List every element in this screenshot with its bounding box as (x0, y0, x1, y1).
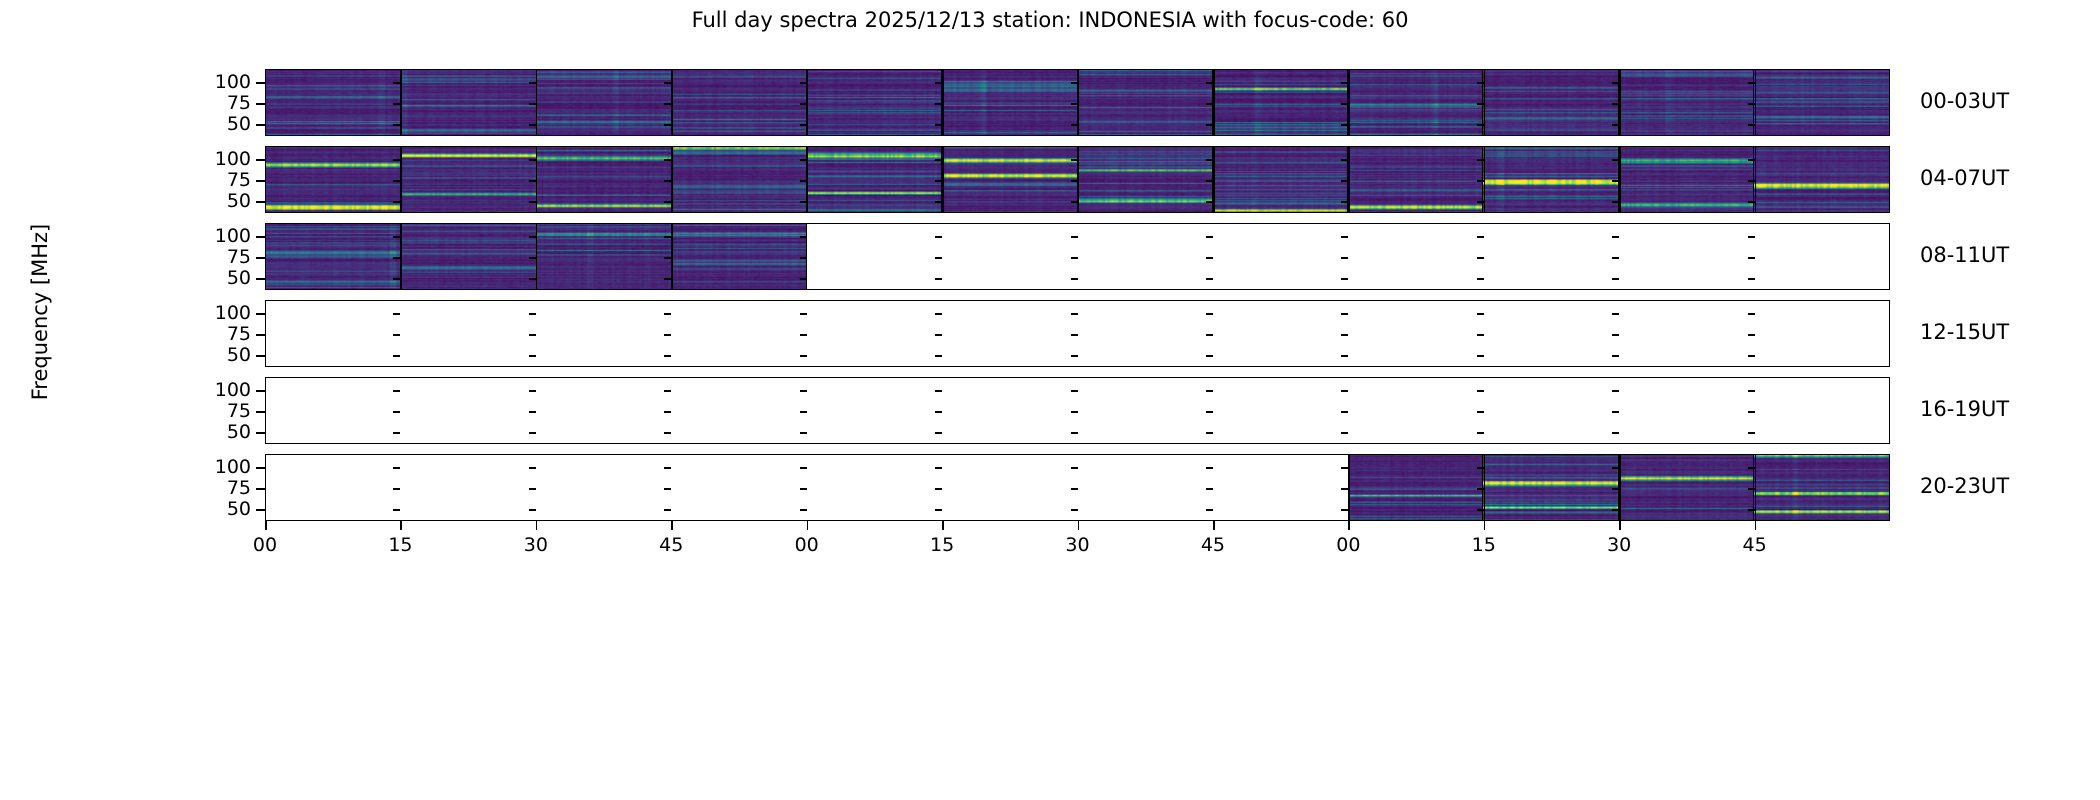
y-tick-label: 75 (227, 323, 251, 345)
spectrogram-image (266, 70, 400, 135)
panel-tick-stub (393, 180, 400, 182)
panel-separator (807, 69, 809, 136)
panel-tick-stub (393, 159, 400, 161)
panel-tick-stub (935, 180, 942, 182)
panel-tick-stub (1612, 334, 1619, 336)
panel-separator (942, 300, 944, 367)
panel-tick-stub (1748, 432, 1755, 434)
spectrogram-panel (942, 224, 1077, 289)
panel-separator (1619, 223, 1621, 290)
panel-tick-stub (935, 159, 942, 161)
x-tick-mark (671, 521, 673, 530)
spectrogram-panel (1754, 147, 1889, 212)
spectrogram-panel (672, 455, 807, 520)
panel-tick-stub (1748, 488, 1755, 490)
panel-tick-stub (1477, 180, 1484, 182)
panel-separator (807, 454, 809, 521)
spectrogram-image (266, 147, 400, 212)
panel-tick-stub (1341, 82, 1348, 84)
spectrogram-panel (1754, 378, 1889, 443)
panel-separator (942, 146, 944, 213)
panel-separator (1619, 69, 1621, 136)
panel-tick-stub (1748, 201, 1755, 203)
panel-tick-stub (1748, 467, 1755, 469)
panel-tick-stub (664, 103, 671, 105)
panel-tick-stub (1206, 201, 1213, 203)
y-tick-label: 50 (227, 421, 251, 443)
y-axis-label: Frequency [MHz] (28, 182, 52, 442)
spectrogram-panel (1078, 147, 1213, 212)
panel-tick-stub (935, 124, 942, 126)
y-tick-mark (256, 278, 265, 280)
spectrogram-image (401, 224, 535, 289)
panel-tick-stub (1477, 488, 1484, 490)
panel-separator (1078, 223, 1080, 290)
spectrogram-image (1754, 455, 1889, 520)
panel-tick-stub (1341, 509, 1348, 511)
spectrogram-image (537, 70, 671, 135)
panel-tick-stub (393, 278, 400, 280)
panel-tick-stub (1477, 432, 1484, 434)
y-tick-mark (256, 355, 265, 357)
spectrogram-panel (1483, 455, 1618, 520)
panel-tick-stub (1206, 103, 1213, 105)
panel-tick-stub (1477, 103, 1484, 105)
x-tick-label: 45 (1742, 534, 1766, 556)
panel-separator (1755, 223, 1757, 290)
panel-tick-stub (664, 159, 671, 161)
y-tick-mark (256, 390, 265, 392)
y-tick-label: 75 (227, 400, 251, 422)
spectrogram-panel (401, 70, 536, 135)
panel-tick-stub (393, 488, 400, 490)
panel-tick-stub (800, 257, 807, 259)
spectrogram-panel (1754, 224, 1889, 289)
panel-tick-stub (1341, 411, 1348, 413)
panel-tick-stub (1206, 257, 1213, 259)
spectrogram-panel (672, 378, 807, 443)
panel-tick-stub (1612, 390, 1619, 392)
y-tick-mark (256, 334, 265, 336)
spectrogram-panel (1483, 147, 1618, 212)
panel-tick-stub (664, 509, 671, 511)
panel-separator (400, 146, 402, 213)
x-tick-label: 00 (795, 534, 819, 556)
spectrogram-panel (1213, 378, 1348, 443)
x-tick-label: 15 (1472, 534, 1496, 556)
panel-separator (1755, 454, 1757, 521)
spectrogram-panel (401, 301, 536, 366)
spectrogram-panel (807, 147, 942, 212)
spectrogram-image (1483, 147, 1617, 212)
panel-tick-stub (1477, 334, 1484, 336)
panel-tick-stub (1748, 159, 1755, 161)
spectrogram-panel (1078, 301, 1213, 366)
panel-tick-stub (1612, 257, 1619, 259)
panel-separator (1755, 300, 1757, 367)
panel-tick-stub (800, 313, 807, 315)
panel-tick-stub (393, 355, 400, 357)
row-time-label: 16-19UT (1920, 397, 2009, 421)
panel-separator (1213, 300, 1215, 367)
panel-tick-stub (1071, 278, 1078, 280)
panel-tick-stub (1341, 432, 1348, 434)
panel-tick-stub (1612, 411, 1619, 413)
panel-separator (1755, 146, 1757, 213)
x-tick-mark (1755, 521, 1757, 530)
panel-tick-stub (935, 201, 942, 203)
panel-separator (1348, 69, 1350, 136)
panel-tick-stub (935, 278, 942, 280)
y-tick-mark (256, 180, 265, 182)
panel-tick-stub (529, 124, 536, 126)
panel-tick-stub (529, 236, 536, 238)
x-tick-mark (1484, 521, 1486, 530)
panel-tick-stub (1477, 236, 1484, 238)
spectrogram-panel (942, 301, 1077, 366)
panel-tick-stub (393, 103, 400, 105)
panel-separator (942, 377, 944, 444)
y-tick-label: 100 (215, 148, 251, 170)
spectrogram-panel (1348, 301, 1483, 366)
panel-tick-stub (664, 390, 671, 392)
page-title: Full day spectra 2025/12/13 station: IND… (0, 8, 2100, 32)
panel-separator (1078, 454, 1080, 521)
panel-tick-stub (1748, 390, 1755, 392)
panel-tick-stub (1341, 159, 1348, 161)
panel-tick-stub (1612, 278, 1619, 280)
panel-tick-stub (529, 334, 536, 336)
panel-separator (1755, 377, 1757, 444)
panel-tick-stub (1748, 278, 1755, 280)
panel-separator (1348, 223, 1350, 290)
spectrogram-panel (537, 455, 672, 520)
panel-tick-stub (935, 236, 942, 238)
spectrogram-panel (401, 147, 536, 212)
spectrogram-image (1619, 70, 1753, 135)
spectrogram-image (537, 147, 671, 212)
x-tick-mark (1619, 521, 1621, 530)
row-time-label: 20-23UT (1920, 474, 2009, 498)
panel-tick-stub (1341, 103, 1348, 105)
panel-separator (400, 223, 402, 290)
spectrogram-panel (537, 147, 672, 212)
panel-tick-stub (664, 257, 671, 259)
x-tick-mark (265, 521, 267, 530)
panel-tick-stub (1341, 201, 1348, 203)
panel-tick-stub (1748, 236, 1755, 238)
spectrogram-panel (1078, 224, 1213, 289)
panel-tick-stub (935, 509, 942, 511)
panel-tick-stub (1612, 488, 1619, 490)
spectrogram-panel (1078, 70, 1213, 135)
panel-tick-stub (935, 82, 942, 84)
spectrogram-panel (1213, 455, 1348, 520)
panel-separator (807, 223, 809, 290)
panel-tick-stub (800, 159, 807, 161)
x-tick-mark (1078, 521, 1080, 530)
spectrogram-image (1078, 147, 1212, 212)
panel-tick-stub (1612, 236, 1619, 238)
panel-tick-stub (664, 334, 671, 336)
spectrogram-image (1348, 70, 1482, 135)
y-tick-label: 100 (215, 379, 251, 401)
row-time-label: 08-11UT (1920, 243, 2009, 267)
y-tick-label: 50 (227, 498, 251, 520)
spectrogram-panel (672, 147, 807, 212)
spectrogram-panel (807, 455, 942, 520)
panel-tick-stub (1071, 509, 1078, 511)
panel-tick-stub (800, 124, 807, 126)
panel-tick-stub (1206, 278, 1213, 280)
spectrogram-panel (1213, 147, 1348, 212)
panel-tick-stub (800, 236, 807, 238)
panel-tick-stub (1071, 488, 1078, 490)
panel-separator (536, 69, 538, 136)
spectrogram-panel (1078, 455, 1213, 520)
x-tick-mark (807, 521, 809, 530)
panel-tick-stub (800, 411, 807, 413)
panel-tick-stub (1341, 488, 1348, 490)
spectrogram-row-00-03ut: 1007550 (265, 69, 1890, 136)
panel-separator (536, 223, 538, 290)
panel-tick-stub (935, 355, 942, 357)
panel-tick-stub (1748, 124, 1755, 126)
spectrogram-image (1348, 147, 1482, 212)
spectrogram-panel (1619, 147, 1754, 212)
panel-tick-stub (1206, 509, 1213, 511)
x-tick-mark (1213, 521, 1215, 530)
panel-tick-stub (800, 278, 807, 280)
panel-tick-stub (1071, 201, 1078, 203)
x-tick-label: 30 (1607, 534, 1631, 556)
panel-separator (400, 454, 402, 521)
panel-tick-stub (1612, 124, 1619, 126)
y-tick-mark (256, 411, 265, 413)
panel-tick-stub (529, 278, 536, 280)
spectrogram-image (672, 70, 806, 135)
panel-tick-stub (1341, 313, 1348, 315)
panel-tick-stub (393, 432, 400, 434)
panel-separator (1619, 454, 1621, 521)
spectrogram-panel (942, 70, 1077, 135)
panel-tick-stub (935, 432, 942, 434)
spectrogram-panel (266, 378, 401, 443)
panel-tick-stub (664, 201, 671, 203)
panel-tick-stub (1206, 236, 1213, 238)
panel-tick-stub (1748, 103, 1755, 105)
panel-tick-stub (393, 257, 400, 259)
panel-separator (807, 300, 809, 367)
panel-tick-stub (1748, 257, 1755, 259)
spectrogram-panel (266, 301, 401, 366)
panel-tick-stub (664, 313, 671, 315)
x-tick-mark (1348, 521, 1350, 530)
panel-tick-stub (1341, 257, 1348, 259)
panel-tick-stub (664, 355, 671, 357)
panel-tick-stub (1748, 334, 1755, 336)
panel-separator (536, 300, 538, 367)
spectrogram-panel (401, 224, 536, 289)
panel-tick-stub (1206, 411, 1213, 413)
panel-tick-stub (1477, 390, 1484, 392)
spectrogram-panel (266, 70, 401, 135)
panel-tick-stub (393, 82, 400, 84)
panel-tick-stub (1206, 432, 1213, 434)
spectrogram-panel (1348, 224, 1483, 289)
panel-tick-stub (1341, 278, 1348, 280)
panel-tick-stub (393, 411, 400, 413)
spectrogram-image (1213, 147, 1347, 212)
panel-separator (1078, 377, 1080, 444)
spectrogram-panel (1619, 455, 1754, 520)
spectrogram-panel (1078, 378, 1213, 443)
spectrogram-panel (1754, 455, 1889, 520)
spectrogram-panel (1348, 455, 1483, 520)
spectrogram-image (942, 147, 1076, 212)
panel-separator (1213, 454, 1215, 521)
panel-tick-stub (935, 488, 942, 490)
panel-tick-stub (1748, 313, 1755, 315)
panel-separator (1348, 454, 1350, 521)
spectrogram-panel (1619, 301, 1754, 366)
panel-tick-stub (1071, 180, 1078, 182)
spectrogram-panel (942, 378, 1077, 443)
spectrogram-image (1078, 70, 1212, 135)
panel-separator (807, 146, 809, 213)
y-tick-mark (256, 467, 265, 469)
spectrogram-panel (1483, 70, 1618, 135)
panel-tick-stub (529, 201, 536, 203)
panel-separator (536, 146, 538, 213)
row-time-label: 04-07UT (1920, 166, 2009, 190)
spectrogram-panel (266, 224, 401, 289)
panel-tick-stub (1071, 467, 1078, 469)
panel-separator (1213, 69, 1215, 136)
spectrogram-panel (1619, 224, 1754, 289)
panel-tick-stub (1341, 124, 1348, 126)
panel-tick-stub (1477, 467, 1484, 469)
y-tick-mark (256, 257, 265, 259)
spectrogram-panel (1619, 378, 1754, 443)
panel-tick-stub (1477, 124, 1484, 126)
panel-tick-stub (1612, 467, 1619, 469)
panel-tick-stub (800, 432, 807, 434)
panel-tick-stub (664, 82, 671, 84)
panel-tick-stub (1612, 355, 1619, 357)
spectrogram-panel (1348, 378, 1483, 443)
panel-tick-stub (393, 509, 400, 511)
spectrogram-panel (942, 147, 1077, 212)
panel-tick-stub (1612, 509, 1619, 511)
panel-separator (1484, 377, 1486, 444)
panel-separator (1484, 454, 1486, 521)
panel-tick-stub (800, 488, 807, 490)
y-tick-mark (256, 103, 265, 105)
spectrogram-image (1754, 147, 1889, 212)
x-tick-mark (400, 521, 402, 530)
spectrogram-panel (1348, 147, 1483, 212)
panel-tick-stub (935, 411, 942, 413)
panel-separator (671, 300, 673, 367)
panel-separator (1348, 146, 1350, 213)
spectrogram-panel (1483, 301, 1618, 366)
row-time-label: 00-03UT (1920, 89, 2009, 113)
spectrogram-panel (537, 224, 672, 289)
panel-separator (536, 454, 538, 521)
spectrogram-panel (537, 70, 672, 135)
panel-tick-stub (529, 411, 536, 413)
panel-separator (1484, 300, 1486, 367)
panel-tick-stub (1612, 432, 1619, 434)
panel-tick-stub (664, 432, 671, 434)
panel-separator (1078, 69, 1080, 136)
y-tick-mark (256, 432, 265, 434)
panel-tick-stub (529, 313, 536, 315)
spectrogram-panel (1348, 70, 1483, 135)
panel-tick-stub (1206, 334, 1213, 336)
panel-separator (671, 377, 673, 444)
spectrogram-image (401, 70, 535, 135)
panel-tick-stub (1071, 124, 1078, 126)
panel-tick-stub (529, 390, 536, 392)
panel-tick-stub (800, 509, 807, 511)
panel-separator (942, 454, 944, 521)
spectrogram-panel (1754, 70, 1889, 135)
panel-tick-stub (1477, 257, 1484, 259)
y-tick-label: 100 (215, 71, 251, 93)
spectrogram-panel (807, 378, 942, 443)
panel-tick-stub (1071, 411, 1078, 413)
panel-tick-stub (529, 103, 536, 105)
panel-separator (1755, 69, 1757, 136)
panel-tick-stub (800, 180, 807, 182)
panel-tick-stub (1612, 180, 1619, 182)
panel-separator (671, 454, 673, 521)
panel-tick-stub (935, 103, 942, 105)
panel-separator (1484, 223, 1486, 290)
spectrogram-row-12-15ut: 1007550 (265, 300, 1890, 367)
panel-tick-stub (393, 236, 400, 238)
panel-tick-stub (1748, 509, 1755, 511)
spectrogram-image (807, 147, 941, 212)
spectrogram-image (537, 224, 671, 289)
panel-tick-stub (935, 313, 942, 315)
panel-tick-stub (1612, 201, 1619, 203)
spectrogram-panel (1619, 70, 1754, 135)
spectrogram-panel (1483, 224, 1618, 289)
panel-tick-stub (393, 334, 400, 336)
panel-tick-stub (1206, 124, 1213, 126)
y-tick-mark (256, 313, 265, 315)
panel-separator (400, 69, 402, 136)
panel-tick-stub (664, 488, 671, 490)
panel-tick-stub (800, 390, 807, 392)
y-tick-mark (256, 82, 265, 84)
spectrogram-image (266, 224, 400, 289)
spectrogram-panel (672, 224, 807, 289)
x-tick-label: 30 (1065, 534, 1089, 556)
x-tick-label: 30 (524, 534, 548, 556)
panel-tick-stub (800, 467, 807, 469)
panel-tick-stub (1477, 201, 1484, 203)
panel-tick-stub (393, 313, 400, 315)
panel-tick-stub (393, 201, 400, 203)
panel-tick-stub (529, 180, 536, 182)
spectrogram-image (672, 224, 806, 289)
panel-tick-stub (935, 257, 942, 259)
panel-tick-stub (664, 124, 671, 126)
